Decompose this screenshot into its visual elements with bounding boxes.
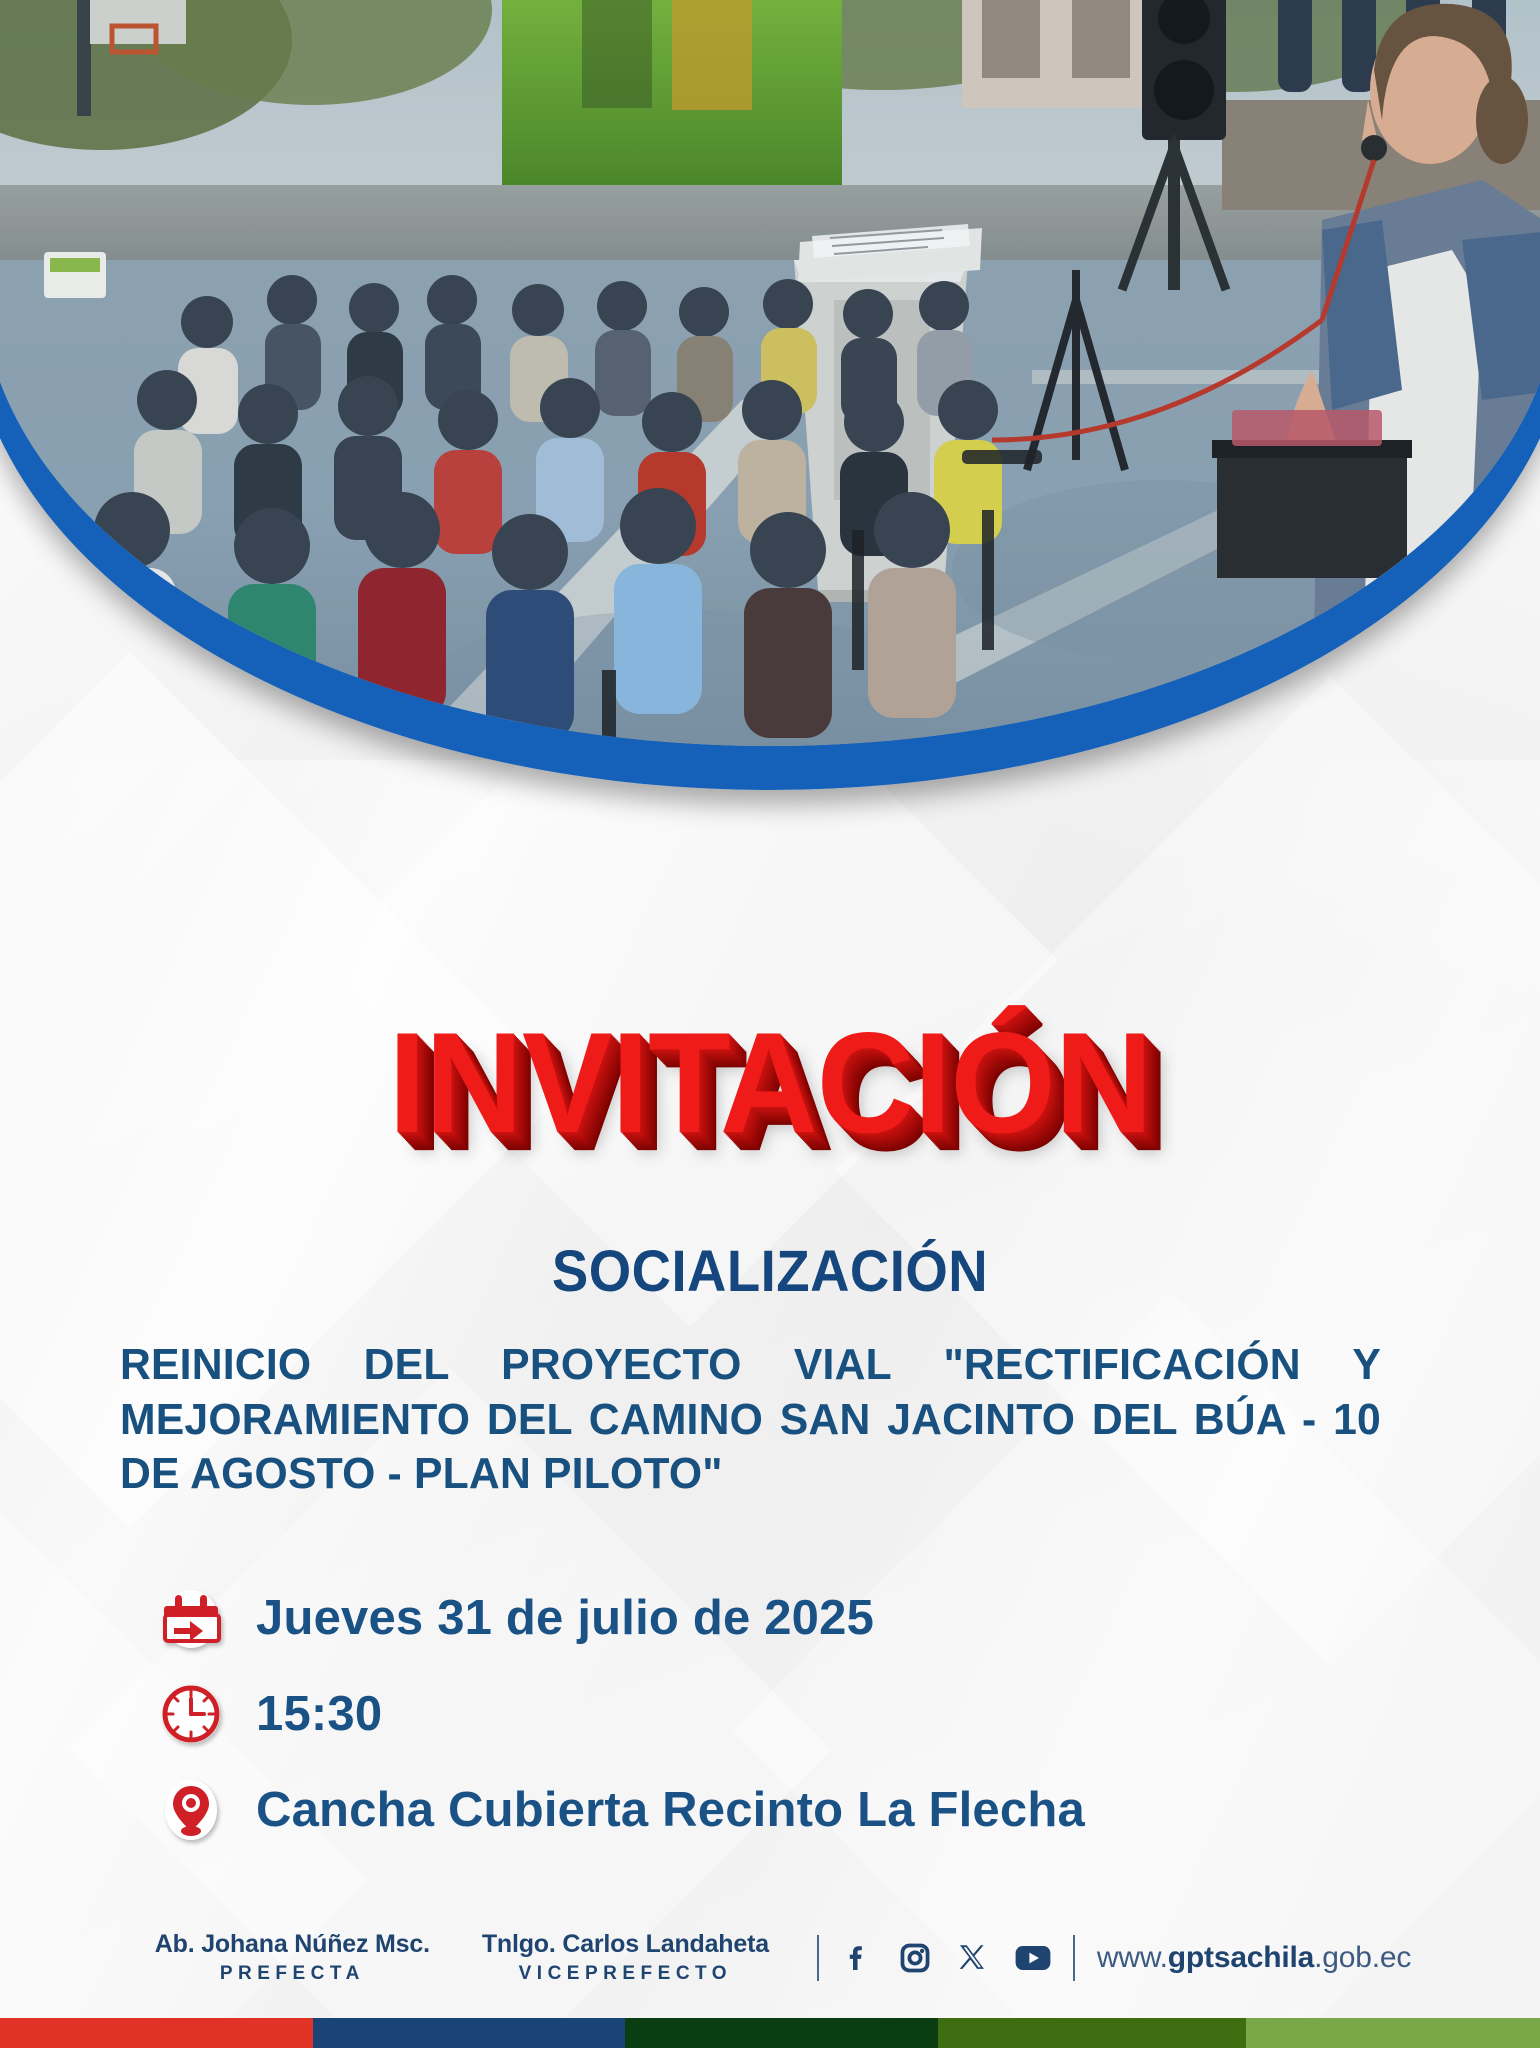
- footer: Ab. Johana Núñez Msc. PREFECTA Tnlgo. Ca…: [0, 1930, 1540, 1985]
- clock-icon: [160, 1683, 222, 1745]
- calendar-icon: [160, 1587, 222, 1649]
- hero-photo-section: [0, 0, 1540, 790]
- bottom-color-bar: [0, 2018, 1540, 2048]
- official-name: Ab. Johana Núñez Msc.: [155, 1930, 430, 1959]
- bar-segment-green: [938, 2018, 1246, 2048]
- detail-row-location: Cancha Cubierta Recinto La Flecha: [160, 1762, 1360, 1858]
- official-role: PREFECTA: [155, 1963, 430, 1985]
- page-title: INVITACIÓN: [388, 1012, 1151, 1155]
- url-prefix: www.: [1097, 1941, 1168, 1974]
- instagram-icon[interactable]: [899, 1942, 931, 1974]
- footer-divider: [1073, 1935, 1075, 1981]
- event-details: Jueves 31 de julio de 2025: [160, 1570, 1360, 1858]
- invitation-poster: INVITACIÓN SOCIALIZACIÓN REINICIO DEL PR…: [0, 0, 1540, 2048]
- website-url[interactable]: www.gptsachila.gob.ec: [1097, 1941, 1411, 1975]
- social-links: [841, 1942, 1051, 1974]
- official-role: VICEPREFECTO: [482, 1963, 769, 1985]
- official-prefecta: Ab. Johana Núñez Msc. PREFECTA: [129, 1930, 456, 1985]
- subtitle: SOCIALIZACIÓN: [46, 1238, 1494, 1305]
- detail-location-text: Cancha Cubierta Recinto La Flecha: [256, 1782, 1085, 1838]
- detail-time-text: 15:30: [256, 1686, 382, 1742]
- x-twitter-icon[interactable]: [957, 1942, 989, 1974]
- bar-segment-red: [0, 2018, 313, 2048]
- official-viceprefecto: Tnlgo. Carlos Landaheta VICEPREFECTO: [456, 1930, 795, 1985]
- bar-segment-blue: [313, 2018, 626, 2048]
- url-suffix: .gob.ec: [1314, 1941, 1411, 1974]
- title-block: INVITACIÓN: [0, 1020, 1540, 1148]
- detail-row-date: Jueves 31 de julio de 2025: [160, 1570, 1360, 1666]
- detail-date-text: Jueves 31 de julio de 2025: [256, 1590, 874, 1646]
- community-meeting-photo: [0, 0, 1540, 746]
- footer-divider: [817, 1935, 819, 1981]
- detail-row-time: 15:30: [160, 1666, 1360, 1762]
- url-brand: gptsachila: [1168, 1941, 1314, 1974]
- official-name: Tnlgo. Carlos Landaheta: [482, 1930, 769, 1959]
- project-description: REINICIO DEL PROYECTO VIAL "RECTIFICACIÓ…: [120, 1338, 1381, 1502]
- facebook-icon[interactable]: [841, 1942, 873, 1974]
- location-pin-icon: [160, 1779, 222, 1841]
- bar-segment-light-green: [1246, 2018, 1540, 2048]
- hero-arc-border: [0, 0, 1540, 790]
- bar-segment-dark-green: [625, 2018, 938, 2048]
- youtube-icon[interactable]: [1015, 1944, 1051, 1972]
